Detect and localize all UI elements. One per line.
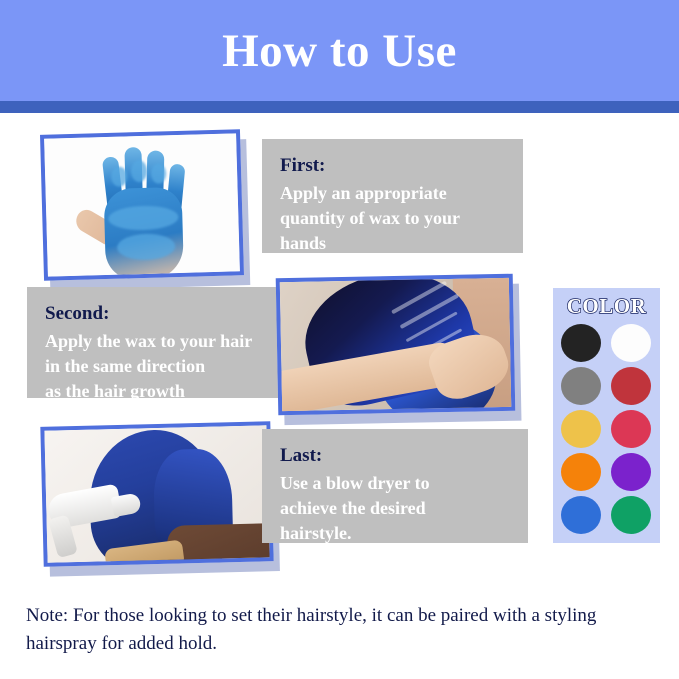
blow-drying-blue-hair-illustration (44, 425, 269, 562)
step-1-text-panel: First: Apply an appropriate quantity of … (262, 139, 523, 253)
step-1-body: Apply an appropriate quantity of wax to … (280, 181, 523, 256)
color-swatch-purple[interactable] (611, 453, 651, 491)
step-2-text-panel: Second: Apply the wax to your hair in th… (27, 287, 295, 398)
hand-with-blue-wax-illustration (44, 133, 240, 276)
color-swatch-grey[interactable] (561, 367, 601, 405)
photo-frame (40, 421, 273, 567)
photo-frame (40, 129, 244, 281)
step-2-body: Apply the wax to your hair in the same d… (45, 329, 295, 404)
how-to-use-infographic: How to Use (0, 0, 679, 679)
color-swatch-yellow[interactable] (561, 410, 601, 448)
color-panel-title: COLOR (553, 294, 660, 318)
color-swatch-orange[interactable] (561, 453, 601, 491)
color-swatch-crimson[interactable] (611, 410, 651, 448)
step-2-label: Second: (45, 301, 295, 327)
step-3-body: Use a blow dryer to achieve the desired … (280, 471, 528, 546)
step-2-photo (276, 274, 516, 416)
photo-frame (276, 274, 516, 416)
step-1-label: First: (280, 153, 523, 179)
header-divider-bar (0, 101, 679, 113)
color-swatch-panel: COLOR (553, 288, 660, 543)
step-3-text-panel: Last: Use a blow dryer to achieve the de… (262, 429, 528, 543)
step-1-photo (40, 129, 244, 281)
color-swatch-blue[interactable] (561, 496, 601, 534)
color-swatch-green[interactable] (611, 496, 651, 534)
applying-wax-to-hair-illustration (280, 278, 511, 411)
color-swatch-grid (561, 324, 653, 536)
step-3-photo (40, 421, 273, 567)
color-swatch-red[interactable] (611, 367, 651, 405)
page-title: How to Use (0, 22, 679, 80)
step-3-label: Last: (280, 443, 528, 469)
color-swatch-white[interactable] (611, 324, 651, 362)
color-swatch-black[interactable] (561, 324, 601, 362)
header-banner: How to Use (0, 0, 679, 101)
footer-note: Note: For those looking to set their hai… (26, 602, 626, 658)
